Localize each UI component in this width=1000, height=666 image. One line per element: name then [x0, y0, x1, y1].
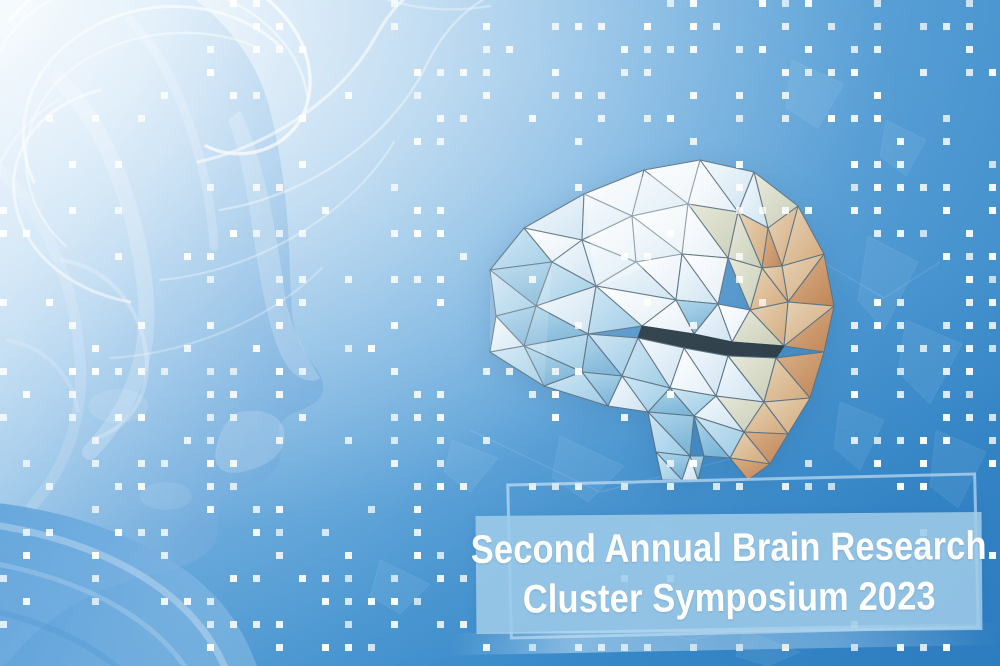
event-title: Second Annual Brain Research Cluster Sym… — [476, 512, 983, 634]
event-title-line-2: Cluster Symposium 2023 — [523, 571, 936, 624]
poster-canvas: Second Annual Brain Research Cluster Sym… — [0, 0, 1000, 666]
low-poly-brain-graphic — [432, 120, 852, 480]
event-title-line-1: Second Annual Brain Research — [471, 521, 987, 575]
